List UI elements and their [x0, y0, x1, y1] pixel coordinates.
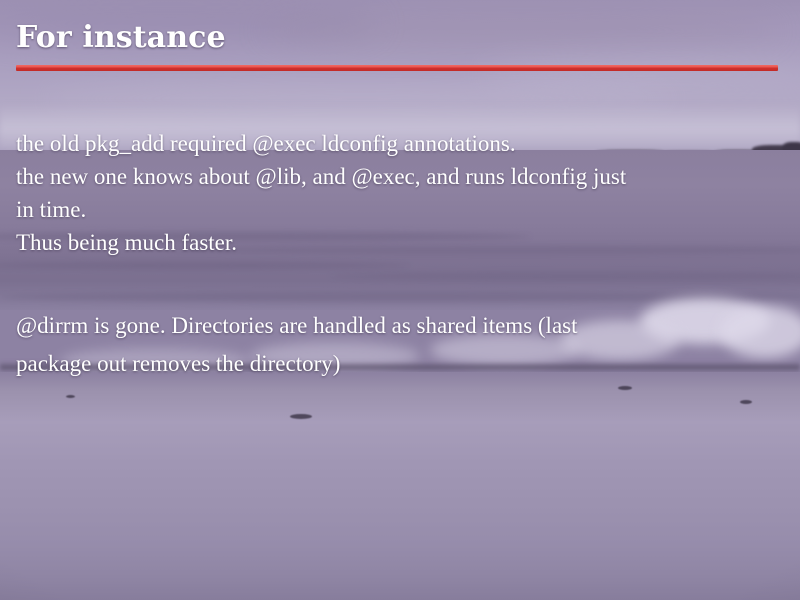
- title-underline-rule: [16, 65, 778, 71]
- body-line: the new one knows about @lib, and @exec,…: [16, 160, 784, 193]
- slide-title: For instance: [16, 19, 226, 57]
- slide-content: For instance the old pkg_add required @e…: [0, 0, 800, 600]
- body-line: @dirrm is gone. Directories are handled …: [16, 307, 784, 345]
- body-line: Thus being much faster.: [16, 226, 784, 259]
- presentation-slide: For instance the old pkg_add required @e…: [0, 0, 800, 600]
- slide-body: the old pkg_add required @exec ldconfig …: [16, 127, 784, 259]
- body-line: package out removes the directory): [16, 345, 784, 383]
- body-line: the old pkg_add required @exec ldconfig …: [16, 127, 784, 160]
- slide-body-paragraph-2: @dirrm is gone. Directories are handled …: [16, 307, 784, 383]
- body-line: in time.: [16, 193, 784, 226]
